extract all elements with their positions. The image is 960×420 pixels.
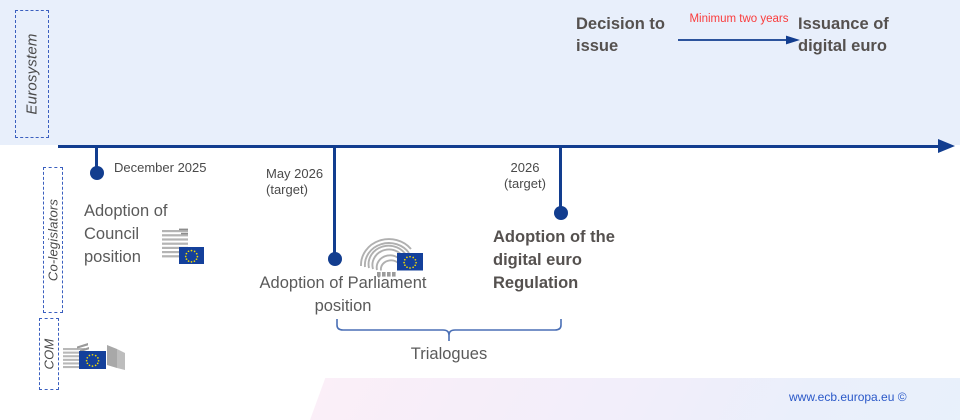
milestone-date-note: (target) [266, 182, 323, 198]
milestone-stem [333, 148, 336, 256]
milestone-date-parliament-position: May 2026 (target) [266, 166, 323, 198]
lane-label-com: COM [39, 318, 59, 390]
council-of-the-eu-logo [162, 228, 204, 266]
decision-to-issuance-block: Decision to issue Minimum two years Issu… [576, 13, 946, 65]
lane-label-co-legislators: Co-legislators [43, 167, 63, 313]
arrow-right-icon [678, 33, 800, 45]
milestone-date-digital-euro-regulation: 2026 (target) [479, 160, 571, 192]
milestone-date-text: 2026 [479, 160, 571, 176]
lane-label-eurosystem-text: Eurosystem [24, 33, 41, 114]
timeline-axis [58, 145, 942, 148]
minimum-two-years-label: Minimum two years [680, 13, 798, 25]
milestone-dot [328, 252, 342, 266]
lane-label-eurosystem: Eurosystem [15, 10, 49, 138]
european-commission-logo [63, 340, 129, 380]
milestone-dot [554, 206, 568, 220]
trialogues-label: Trialogues [335, 345, 563, 364]
decision-to-issue-label: Decision to issue [576, 13, 672, 57]
milestone-date-council-position: December 2025 [114, 160, 207, 176]
footer-url[interactable]: www.ecb.europa.eu © [789, 390, 907, 404]
lane-label-com-text: COM [42, 339, 57, 370]
milestone-dot [90, 166, 104, 180]
milestone-date-text: May 2026 [266, 166, 323, 182]
lane-label-co-legislators-text: Co-legislators [46, 199, 61, 281]
milestone-date-note: (target) [479, 176, 571, 192]
issuance-of-digital-euro-label: Issuance of digital euro [798, 13, 938, 57]
arrow-right-icon [938, 139, 955, 153]
european-parliament-logo [357, 232, 423, 282]
slide-canvas: Eurosystem Co-legislators COM December 2… [0, 0, 960, 420]
milestone-event-digital-euro-regulation: Adoption of the digital euro Regulation [493, 226, 653, 295]
curly-brace-icon [335, 318, 563, 342]
